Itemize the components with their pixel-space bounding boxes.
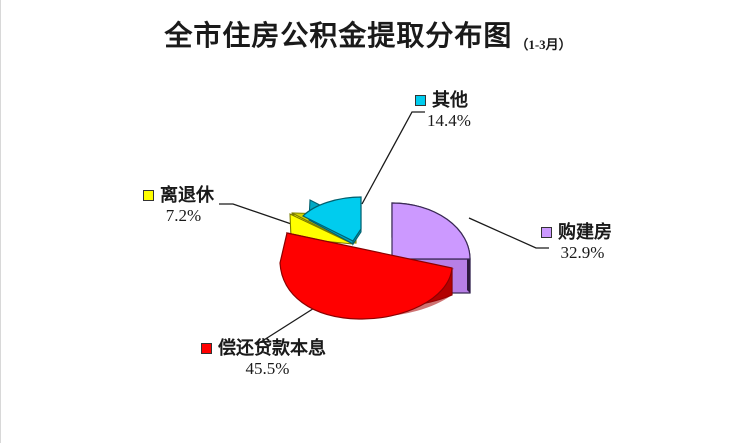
data-label-goujianfang-value: 32.9% [541, 243, 612, 263]
data-label-changhuan-value: 45.5% [201, 359, 326, 379]
leader-line-goujianfang [469, 218, 549, 248]
pie-chart-graphic [1, 0, 734, 443]
data-label-lituixiu-name: 离退休 [160, 185, 214, 205]
pie-slice-goujianfang-top [392, 203, 470, 259]
data-label-goujianfang-name: 购建房 [558, 222, 612, 242]
legend-swatch-lituixiu [143, 190, 154, 201]
data-label-qita-value: 14.4% [415, 111, 471, 131]
data-label-changhuan: 偿还贷款本息 45.5% [201, 338, 326, 379]
pie-chart-page: 全市住房公积金提取分布图（1-3月） [0, 0, 734, 443]
legend-swatch-goujianfang [541, 227, 552, 238]
data-label-qita: 其他 14.4% [415, 90, 471, 131]
data-label-goujianfang: 购建房 32.9% [541, 222, 612, 263]
data-label-qita-name: 其他 [432, 90, 468, 110]
data-label-changhuan-name: 偿还贷款本息 [218, 338, 326, 358]
data-label-lituixiu: 离退休 7.2% [143, 185, 214, 226]
data-label-lituixiu-value: 7.2% [143, 206, 214, 226]
legend-swatch-qita [415, 95, 426, 106]
pie-slice-goujianfang-edge [467, 256, 470, 293]
legend-swatch-changhuan [201, 343, 212, 354]
